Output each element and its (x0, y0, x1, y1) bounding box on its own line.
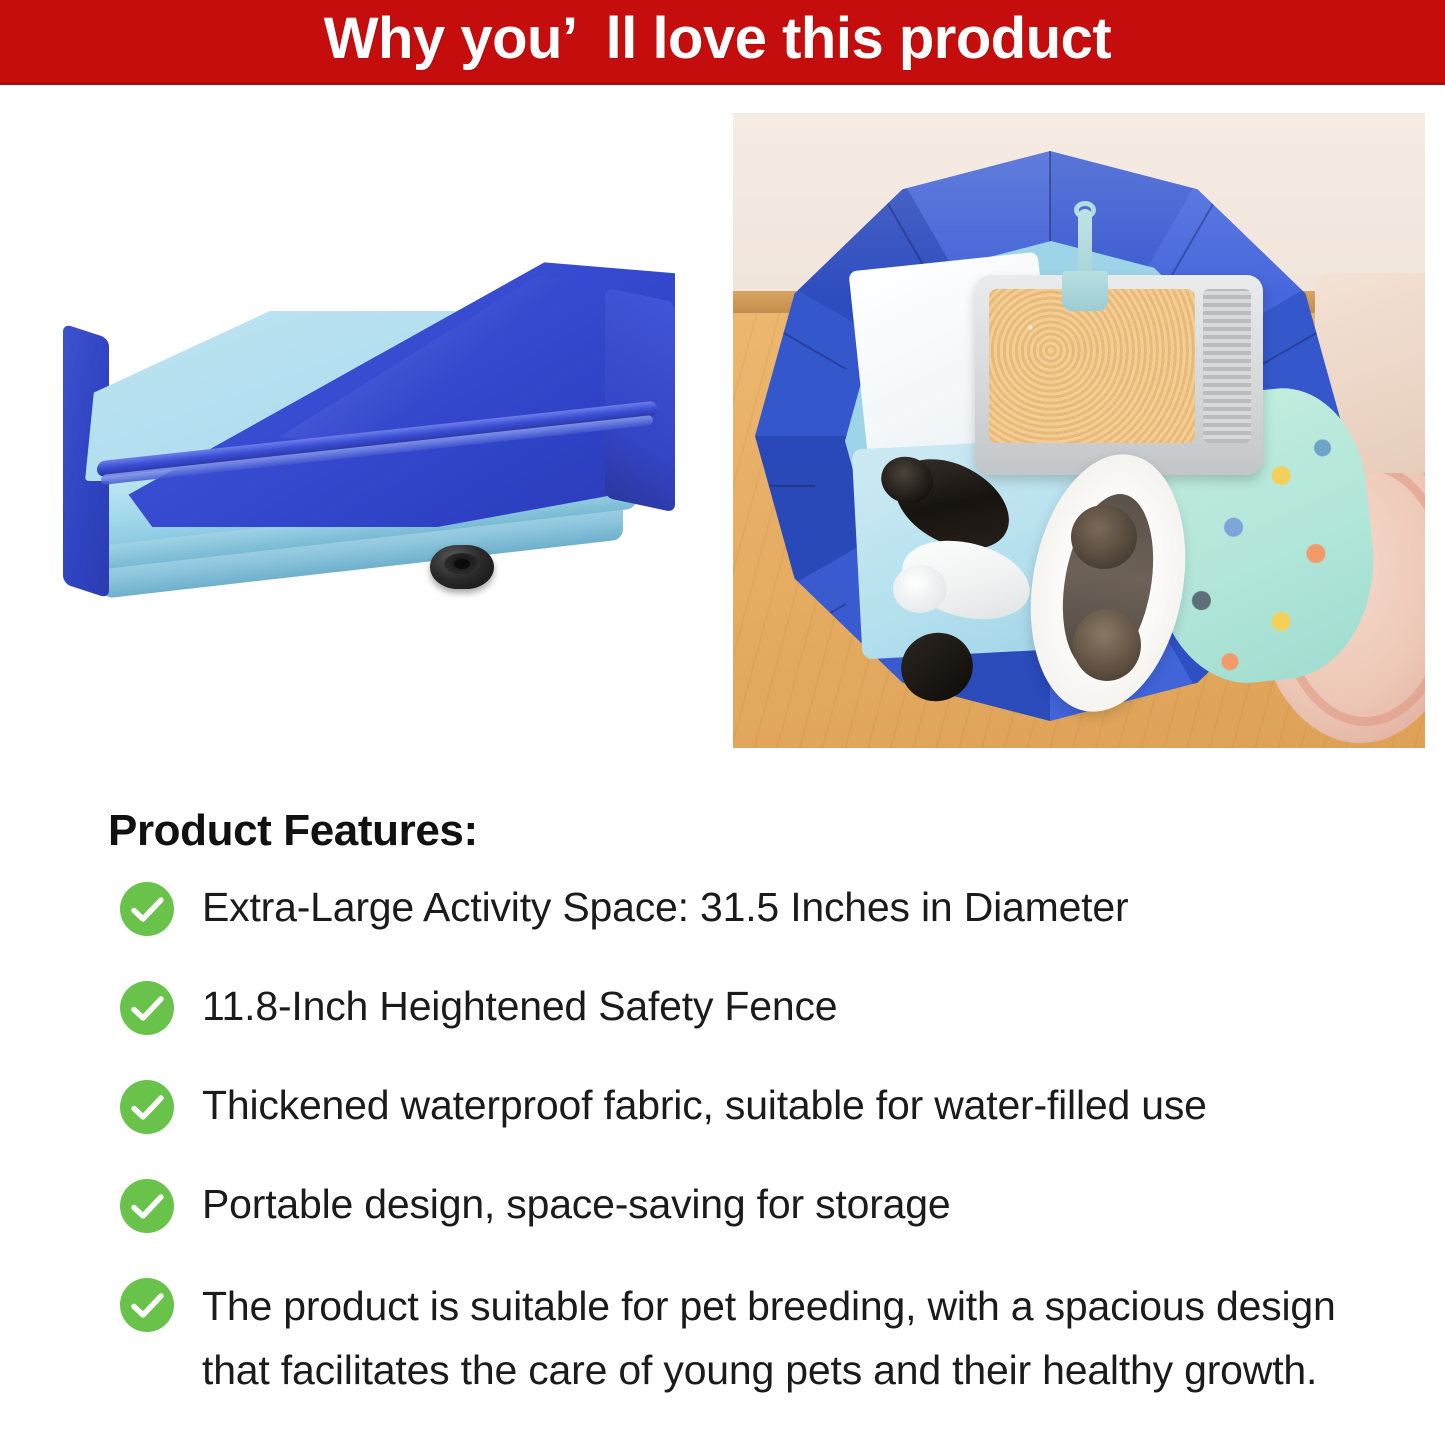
kitten-tabby-in-tunnel-lower (1073, 609, 1141, 681)
feature-text: The product is suitable for pet breeding… (202, 1274, 1412, 1402)
features-list: Extra-Large Activity Space: 31.5 Inches … (0, 878, 1445, 1441)
drain-plug-core (454, 559, 470, 569)
feature-item-4: Portable design, space-saving for storag… (0, 1175, 1445, 1235)
check-circle-icon (118, 979, 176, 1037)
pool-panel-seam (1049, 151, 1051, 251)
pool-right-edge-blue (605, 288, 675, 513)
product-photo-row (0, 85, 1445, 765)
kitten-tabby-in-tunnel-upper (1071, 505, 1137, 569)
litter-box-grate (1203, 289, 1251, 443)
feature-text: Thickened waterproof fabric, suitable fo… (202, 1076, 1207, 1134)
features-heading: Product Features: (108, 806, 478, 856)
litter-sand (989, 289, 1195, 443)
litter-scoop-head (1062, 271, 1108, 311)
check-circle-icon (118, 1078, 176, 1136)
kitten-white-head (893, 565, 947, 613)
feature-text: 11.8-Inch Heightened Safety Fence (202, 977, 837, 1035)
page-header-banner: Why you’ ll love this product (0, 0, 1445, 85)
feature-text: Extra-Large Activity Space: 31.5 Inches … (202, 878, 1128, 936)
feature-item-5: The product is suitable for pet breeding… (0, 1274, 1445, 1402)
check-circle-icon (118, 1276, 176, 1334)
folded-pool-illustration (45, 235, 705, 655)
feature-item-3: Thickened waterproof fabric, suitable fo… (0, 1076, 1445, 1136)
feature-item-1: Extra-Large Activity Space: 31.5 Inches … (0, 878, 1445, 938)
check-circle-icon (118, 880, 176, 938)
pool-panel-seam (1167, 195, 1219, 283)
feature-text: Portable design, space-saving for storag… (202, 1175, 950, 1233)
pool-with-kittens-photo (733, 113, 1425, 748)
folded-pool-photo (45, 235, 705, 655)
check-circle-icon (118, 1177, 176, 1235)
page-title: Why you’ ll love this product (324, 10, 1111, 72)
feature-item-2: 11.8-Inch Heightened Safety Fence (0, 977, 1445, 1037)
